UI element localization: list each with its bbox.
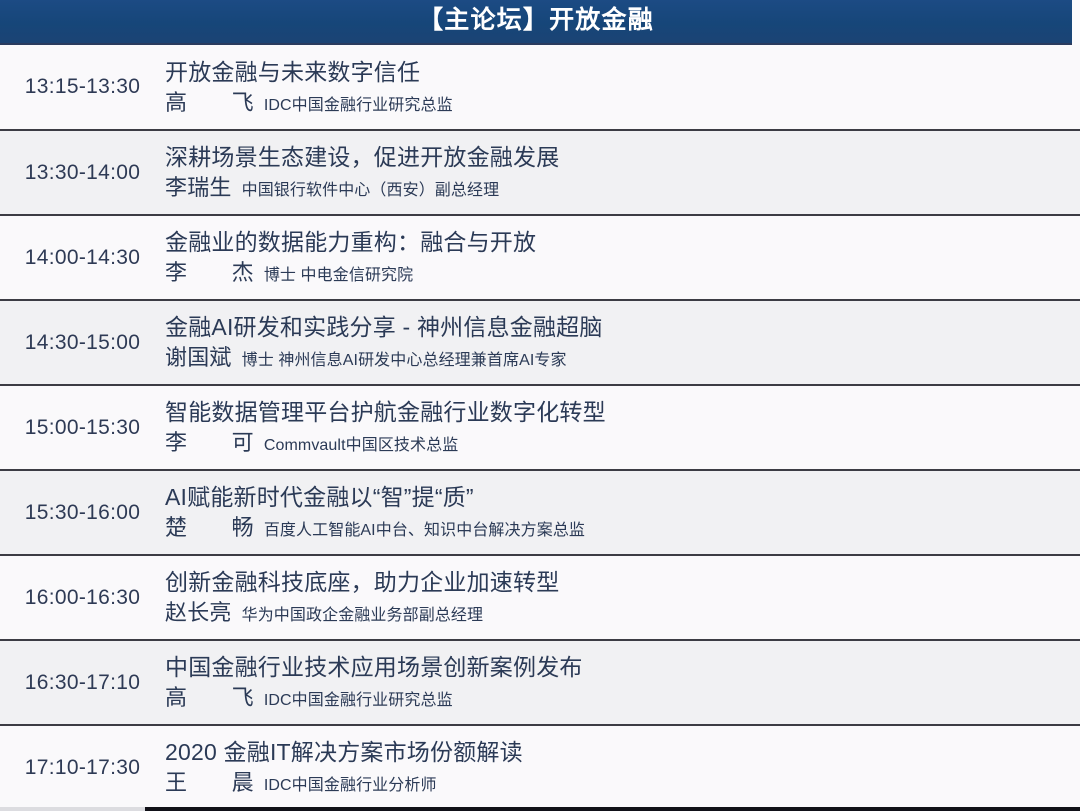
table-row[interactable]: 16:00-16:30 创新金融科技底座，助力企业加速转型 赵长亮 华为中国政企… bbox=[0, 555, 1080, 640]
session-details: 中国金融行业技术应用场景创新案例发布 高 飞 IDC中国金融行业研究总监 bbox=[165, 640, 1080, 725]
session-title: 2020 金融IT解决方案市场份额解读 bbox=[165, 738, 1080, 767]
speaker-name: 王 晨 bbox=[165, 769, 254, 797]
session-details: 金融业的数据能力重构：融合与开放 李 杰 博士 中电金信研究院 bbox=[165, 215, 1080, 300]
session-details: 创新金融科技底座，助力企业加速转型 赵长亮 华为中国政企金融业务部副总经理 bbox=[165, 555, 1080, 640]
speaker-role: IDC中国金融行业分析师 bbox=[264, 776, 437, 796]
table-row[interactable]: 13:30-14:00 深耕场景生态建设，促进开放金融发展 李瑞生 中国银行软件… bbox=[0, 130, 1080, 215]
speaker-line: 李 可 Commvault中国区技术总监 bbox=[165, 429, 1080, 457]
session-time: 13:15-13:30 bbox=[0, 45, 165, 130]
speaker-name: 高 飞 bbox=[165, 684, 254, 712]
session-title: 金融业的数据能力重构：融合与开放 bbox=[165, 228, 1080, 257]
agenda-table-body: 13:15-13:30 开放金融与未来数字信任 高 飞 IDC中国金融行业研究总… bbox=[0, 45, 1080, 810]
table-row[interactable]: 14:00-14:30 金融业的数据能力重构：融合与开放 李 杰 博士 中电金信… bbox=[0, 215, 1080, 300]
session-details: 金融AI研发和实践分享 - 神州信息金融超脑 谢国斌 博士 神州信息AI研发中心… bbox=[165, 300, 1080, 385]
speaker-line: 李 杰 博士 中电金信研究院 bbox=[165, 259, 1080, 287]
speaker-line: 李瑞生 中国银行软件中心（西安）副总经理 bbox=[165, 174, 1080, 202]
session-time: 14:30-15:00 bbox=[0, 300, 165, 385]
table-row[interactable]: 15:00-15:30 智能数据管理平台护航金融行业数字化转型 李 可 Comm… bbox=[0, 385, 1080, 470]
speaker-role: 博士 中电金信研究院 bbox=[264, 266, 413, 286]
speaker-name: 赵长亮 bbox=[165, 599, 232, 627]
speaker-role: 博士 神州信息AI研发中心总经理兼首席AI专家 bbox=[242, 351, 567, 371]
speaker-name: 楚 畅 bbox=[165, 514, 254, 542]
session-time: 15:30-16:00 bbox=[0, 470, 165, 555]
session-details: AI赋能新时代金融以“智”提“质” 楚 畅 百度人工智能AI中台、知识中台解决方… bbox=[165, 470, 1080, 555]
speaker-name: 李瑞生 bbox=[165, 174, 232, 202]
bottom-divider-light-segment bbox=[0, 807, 145, 811]
page-title: 【主论坛】开放金融 bbox=[418, 8, 654, 35]
speaker-role: 百度人工智能AI中台、知识中台解决方案总监 bbox=[264, 521, 585, 541]
table-row[interactable]: 14:30-15:00 金融AI研发和实践分享 - 神州信息金融超脑 谢国斌 博… bbox=[0, 300, 1080, 385]
table-row[interactable]: 15:30-16:00 AI赋能新时代金融以“智”提“质” 楚 畅 百度人工智能… bbox=[0, 470, 1080, 555]
speaker-role: 中国银行软件中心（西安）副总经理 bbox=[242, 181, 500, 201]
speaker-line: 高 飞 IDC中国金融行业研究总监 bbox=[165, 89, 1080, 117]
session-title: AI赋能新时代金融以“智”提“质” bbox=[165, 483, 1080, 512]
speaker-role: IDC中国金融行业研究总监 bbox=[264, 691, 453, 711]
speaker-line: 王 晨 IDC中国金融行业分析师 bbox=[165, 769, 1080, 797]
speaker-line: 赵长亮 华为中国政企金融业务部副总经理 bbox=[165, 599, 1080, 627]
table-row[interactable]: 13:15-13:30 开放金融与未来数字信任 高 飞 IDC中国金融行业研究总… bbox=[0, 45, 1080, 130]
session-time: 14:00-14:30 bbox=[0, 215, 165, 300]
session-title: 中国金融行业技术应用场景创新案例发布 bbox=[165, 653, 1080, 682]
session-details: 智能数据管理平台护航金融行业数字化转型 李 可 Commvault中国区技术总监 bbox=[165, 385, 1080, 470]
speaker-role: 华为中国政企金融业务部副总经理 bbox=[242, 606, 484, 626]
speaker-name: 谢国斌 bbox=[165, 344, 232, 372]
table-row[interactable]: 16:30-17:10 中国金融行业技术应用场景创新案例发布 高 飞 IDC中国… bbox=[0, 640, 1080, 725]
table-row[interactable]: 17:10-17:30 2020 金融IT解决方案市场份额解读 王 晨 IDC中… bbox=[0, 725, 1080, 810]
session-time: 16:00-16:30 bbox=[0, 555, 165, 640]
session-details: 深耕场景生态建设，促进开放金融发展 李瑞生 中国银行软件中心（西安）副总经理 bbox=[165, 130, 1080, 215]
session-title: 深耕场景生态建设，促进开放金融发展 bbox=[165, 143, 1080, 172]
session-time: 15:00-15:30 bbox=[0, 385, 165, 470]
speaker-name: 李 可 bbox=[165, 429, 254, 457]
session-time: 16:30-17:10 bbox=[0, 640, 165, 725]
session-title: 创新金融科技底座，助力企业加速转型 bbox=[165, 568, 1080, 597]
agenda-page: 【主论坛】开放金融 13:15-13:30 开放金融与未来数字信任 高 飞 ID… bbox=[0, 0, 1080, 811]
session-details: 2020 金融IT解决方案市场份额解读 王 晨 IDC中国金融行业分析师 bbox=[165, 725, 1080, 810]
session-title: 智能数据管理平台护航金融行业数字化转型 bbox=[165, 398, 1080, 427]
speaker-name: 李 杰 bbox=[165, 259, 254, 287]
speaker-line: 高 飞 IDC中国金融行业研究总监 bbox=[165, 684, 1080, 712]
agenda-table: 13:15-13:30 开放金融与未来数字信任 高 飞 IDC中国金融行业研究总… bbox=[0, 45, 1080, 811]
session-title: 金融AI研发和实践分享 - 神州信息金融超脑 bbox=[165, 313, 1080, 342]
speaker-role: IDC中国金融行业研究总监 bbox=[264, 96, 453, 116]
speaker-role: Commvault中国区技术总监 bbox=[264, 436, 459, 456]
speaker-line: 谢国斌 博士 神州信息AI研发中心总经理兼首席AI专家 bbox=[165, 344, 1080, 372]
session-time: 13:30-14:00 bbox=[0, 130, 165, 215]
speaker-line: 楚 畅 百度人工智能AI中台、知识中台解决方案总监 bbox=[165, 514, 1080, 542]
session-details: 开放金融与未来数字信任 高 飞 IDC中国金融行业研究总监 bbox=[165, 45, 1080, 130]
speaker-name: 高 飞 bbox=[165, 89, 254, 117]
bottom-divider-dark-segment bbox=[145, 807, 1080, 811]
forum-header-banner: 【主论坛】开放金融 bbox=[0, 0, 1072, 45]
session-title: 开放金融与未来数字信任 bbox=[165, 58, 1080, 87]
bottom-divider bbox=[0, 807, 1080, 811]
session-time: 17:10-17:30 bbox=[0, 725, 165, 810]
